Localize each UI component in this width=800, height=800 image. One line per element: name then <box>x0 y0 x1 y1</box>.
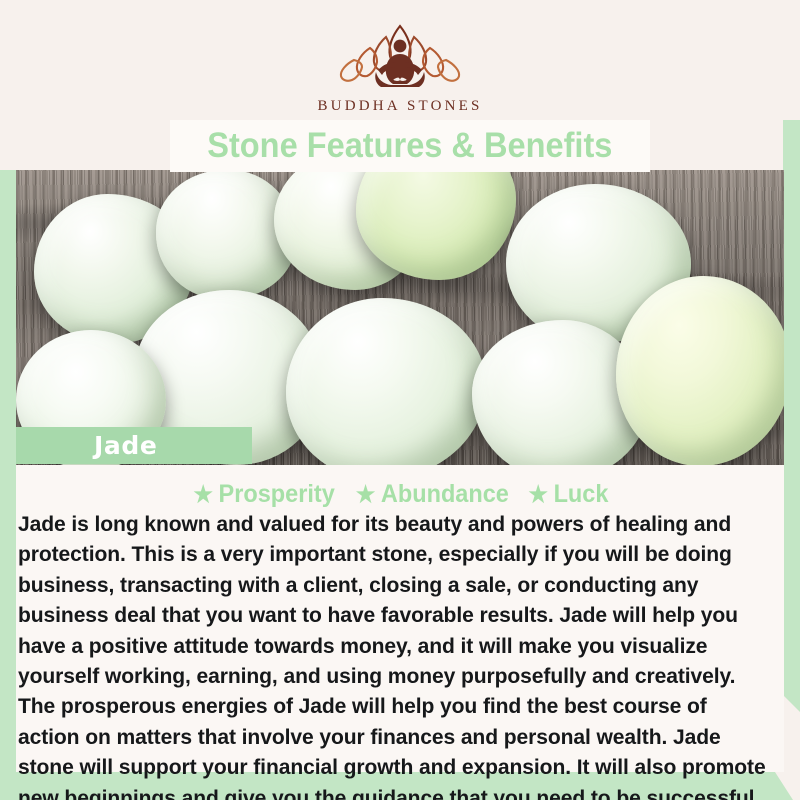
stone-name-label: Jade <box>94 431 157 460</box>
page-title-text: Stone Features & Benefits <box>207 126 612 166</box>
page-title: Stone Features & Benefits <box>170 120 650 172</box>
description-text: Jade is long known and valued for its be… <box>18 509 773 800</box>
stone-name-badge: Jade <box>16 427 252 464</box>
benefit-label: Prosperity <box>219 480 335 509</box>
benefits-row: ★ Prosperity ★ Abundance ★ Luck <box>16 478 784 510</box>
benefit-luck: ★ Luck <box>529 480 609 509</box>
brand-name: BUDDHA STONES <box>317 98 482 115</box>
star-icon: ★ <box>193 483 212 506</box>
brand-header: BUDDHA STONES <box>0 0 800 120</box>
stone-photo <box>16 170 784 465</box>
lotus-meditation-icon <box>326 20 474 92</box>
star-icon: ★ <box>356 483 375 506</box>
benefit-label: Luck <box>554 480 609 509</box>
stone-object <box>286 298 486 465</box>
star-icon: ★ <box>529 483 548 506</box>
frame-left-accent <box>0 170 17 800</box>
benefit-abundance: ★ Abundance <box>356 480 509 509</box>
infographic-page: BUDDHA STONES Stone Features & Benefits … <box>0 0 800 800</box>
benefit-label: Abundance <box>381 480 509 509</box>
benefit-prosperity: ★ Prosperity <box>193 480 334 509</box>
stone-object <box>616 276 784 465</box>
